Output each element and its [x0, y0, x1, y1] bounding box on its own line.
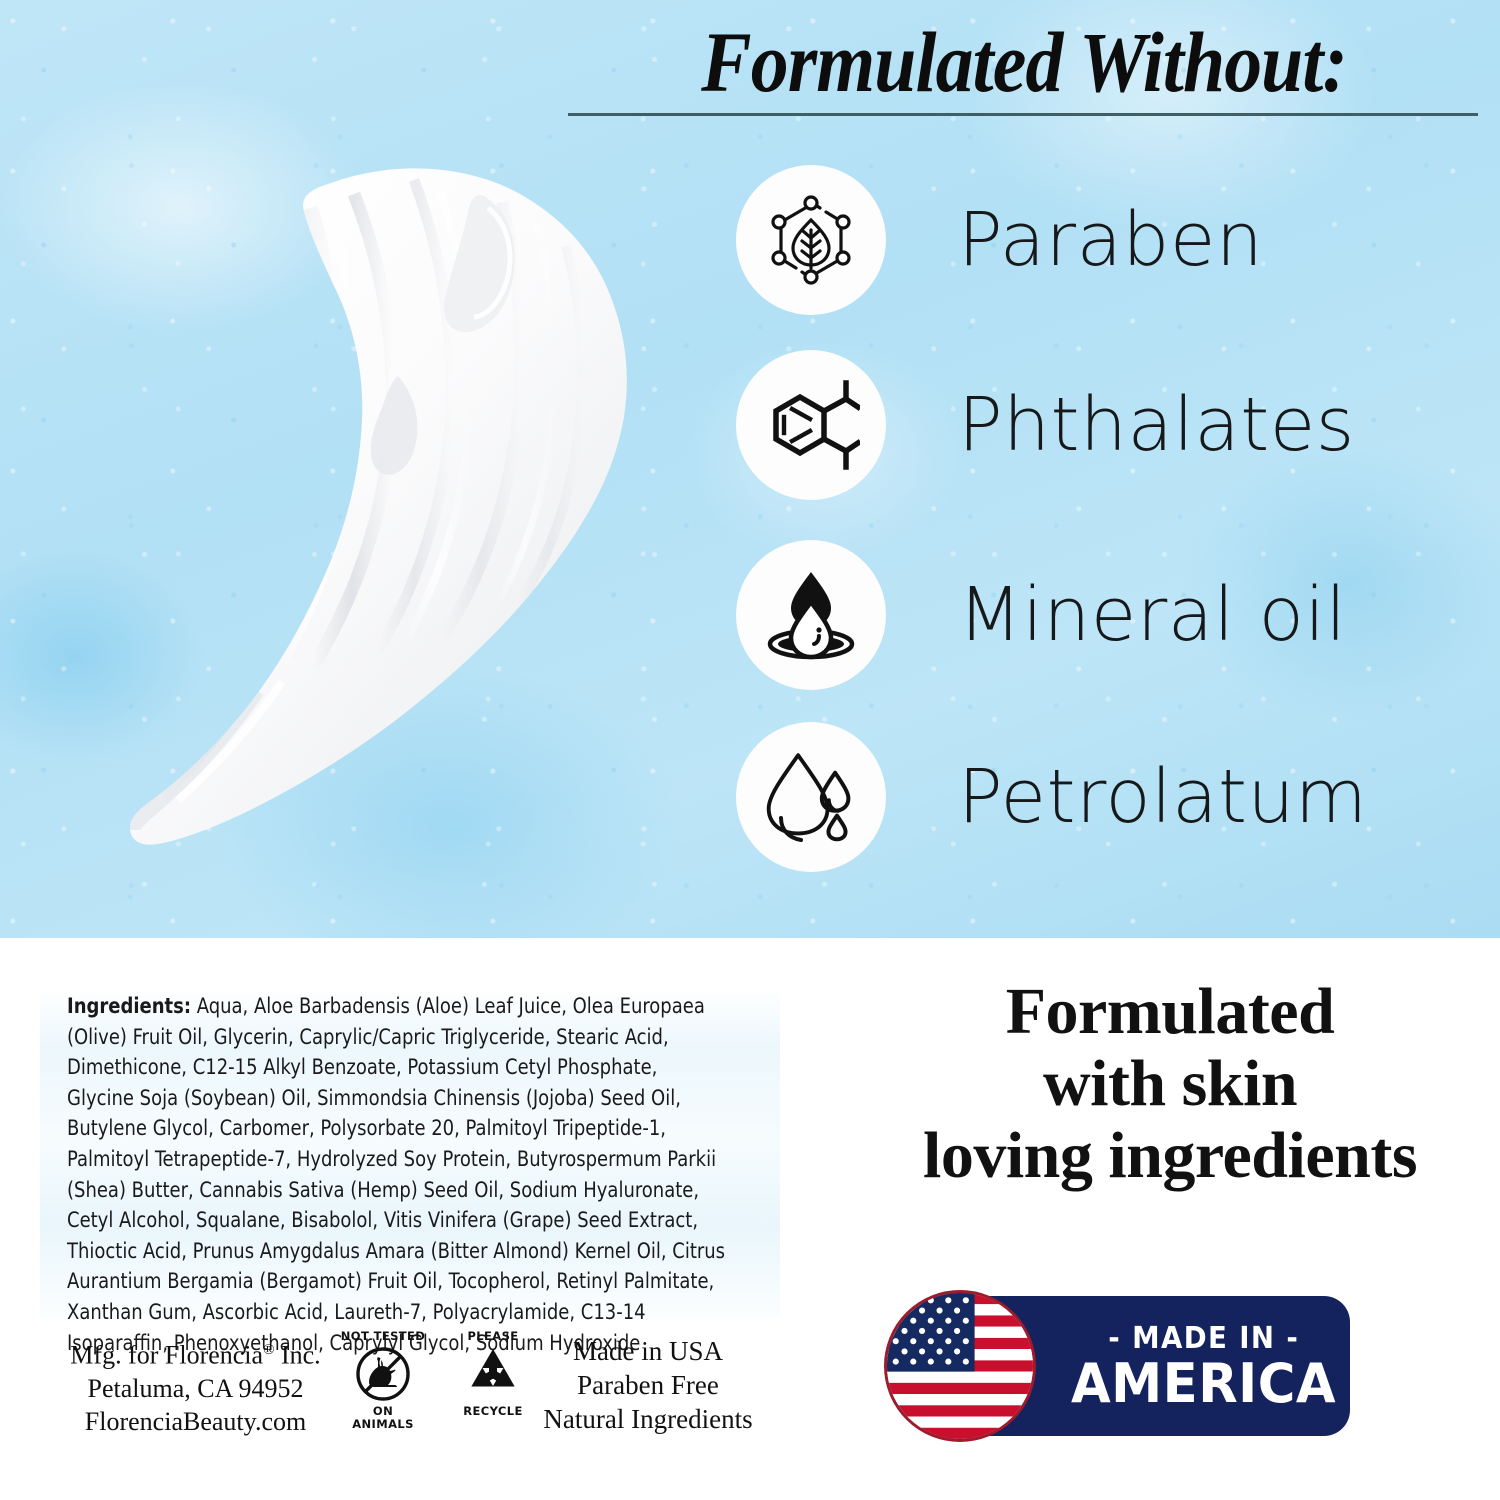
- cream-swatch-image: [96, 150, 676, 890]
- manufacturer-address: Mfg. for Florencia® Inc. Petaluma, CA 94…: [63, 1334, 328, 1438]
- rabbit-no-testing-icon: [340, 1343, 426, 1405]
- cruelty-free-caption-top: NOT TESTED: [340, 1330, 426, 1343]
- oil-droplet-pool-icon: [736, 540, 886, 690]
- molecule-leaf-icon: [736, 165, 886, 315]
- benefit-row-phthalates: Phthalates: [736, 350, 1496, 500]
- benefit-label-paraben: Paraben: [958, 165, 1263, 315]
- water-droplets-icon: [736, 722, 886, 872]
- manufacturer-name: Mfg. for Florencia: [70, 1341, 263, 1370]
- manufacturer-line-1: Mfg. for Florencia® Inc.: [63, 1334, 328, 1372]
- ingredients-panel: Ingredients: Aqua, Aloe Barbadensis (Alo…: [40, 988, 780, 1318]
- benefit-label-petrolatum: Petrolatum: [958, 722, 1368, 872]
- benefit-label-mineral-oil: Mineral oil: [958, 540, 1347, 690]
- claim-paraben-free: Paraben Free: [508, 1368, 788, 1402]
- formulated-with-heading: Formulated with skin loving ingredients: [855, 976, 1485, 1192]
- claim-made-in-usa: Made in USA: [508, 1334, 788, 1368]
- benefit-row-mineral-oil: Mineral oil: [736, 540, 1496, 690]
- manufacturer-row: Mfg. for Florencia® Inc. Petaluma, CA 94…: [40, 1330, 800, 1450]
- benefit-row-paraben: Paraben: [736, 165, 1496, 315]
- manufacturer-suffix: Inc.: [274, 1341, 320, 1370]
- formulated-heading-line-3: loving ingredients: [855, 1120, 1485, 1192]
- ingredients-text: Ingredients: Aqua, Aloe Barbadensis (Alo…: [67, 992, 729, 1359]
- bottom-info-section: Ingredients: Aqua, Aloe Barbadensis (Alo…: [0, 938, 1500, 1500]
- product-claims: Made in USA Paraben Free Natural Ingredi…: [508, 1334, 788, 1436]
- formulated-without-panel: Formulated Without:: [0, 0, 1500, 938]
- benzene-ring-icon: [736, 350, 886, 500]
- made-in-america-line-1: - MADE IN -: [1109, 1321, 1300, 1356]
- page-title: Formulated Without:: [623, 16, 1426, 108]
- ingredients-heading: Ingredients:: [67, 994, 191, 1019]
- cruelty-free-caption-bottom: ON ANIMALS: [340, 1405, 426, 1431]
- usa-flag-circle-icon: [884, 1290, 1036, 1442]
- cruelty-free-badge: NOT TESTED ON ANIMALS: [340, 1330, 426, 1431]
- benefit-label-phthalates: Phthalates: [958, 350, 1355, 500]
- claim-natural-ingredients: Natural Ingredients: [508, 1402, 788, 1436]
- formulated-heading-line-2: with skin: [855, 1048, 1485, 1120]
- made-in-america-text: - MADE IN - AMERICA: [1059, 1296, 1349, 1436]
- title-underline-rule: [568, 113, 1478, 116]
- ingredients-body: Aqua, Aloe Barbadensis (Aloe) Leaf Juice…: [67, 994, 725, 1356]
- made-in-america-line-2: AMERICA: [1071, 1356, 1336, 1412]
- registered-mark: ®: [263, 1342, 274, 1358]
- manufacturer-line-3: FlorenciaBeauty.com: [63, 1405, 328, 1438]
- benefit-row-petrolatum: Petrolatum: [736, 722, 1496, 872]
- formulated-heading-line-1: Formulated: [855, 976, 1485, 1048]
- made-in-america-badge: - MADE IN - AMERICA: [884, 1290, 1352, 1442]
- infographic-page: Formulated Without:: [0, 0, 1500, 1500]
- manufacturer-line-2: Petaluma, CA 94952: [63, 1372, 328, 1405]
